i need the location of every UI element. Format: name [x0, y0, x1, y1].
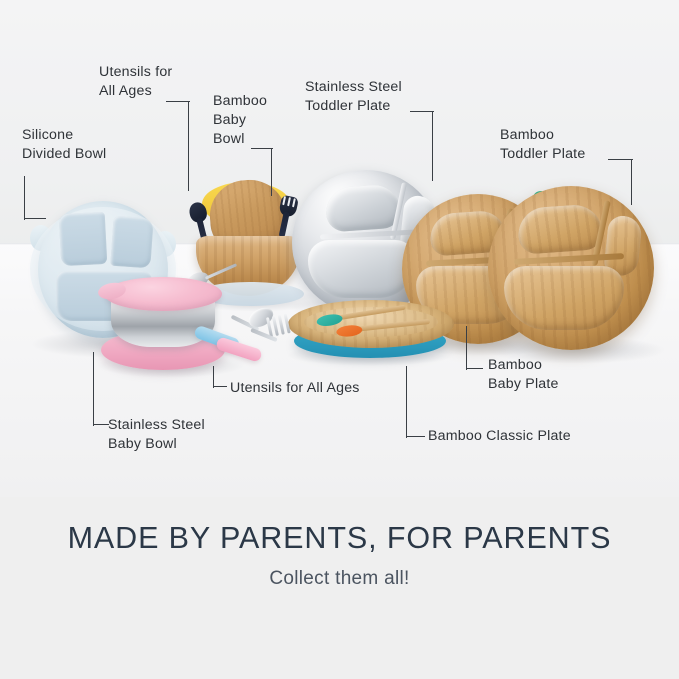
- product-infographic: Silicone Divided Bowl Utensils for All A…: [0, 0, 679, 679]
- label-bamboo-baby-bowl: Bamboo Baby Bowl: [213, 92, 267, 149]
- footer-headline: MADE BY PARENTS, FOR PARENTS: [0, 521, 679, 556]
- fork-handle-pink: [215, 336, 263, 363]
- product-bamboo-toddler-plate-front[interactable]: [488, 186, 654, 350]
- label-silicone-divided-bowl: Silicone Divided Bowl: [22, 126, 106, 164]
- bowl-compartment-1: [59, 212, 108, 266]
- plate-compartment-1: [325, 183, 402, 232]
- connector-bamboo-classic-plate: [406, 366, 425, 438]
- label-stainless-steel-toddler-plate: Stainless Steel Toddler Plate: [305, 78, 402, 116]
- connector-utensils-bottom: [213, 366, 227, 388]
- fork-tine: [287, 197, 291, 206]
- connector-stainless-baby-bowl: [93, 352, 109, 426]
- connector-bamboo-baby-bowl: [251, 148, 273, 196]
- fork-handle: [279, 211, 290, 238]
- product-utensils-for-all-ages[interactable]: [190, 305, 310, 367]
- plate-compartment-3: [504, 266, 624, 330]
- bowl-compartment-2: [110, 216, 153, 269]
- plate-compartment-3: [308, 240, 416, 298]
- connector-bamboo-toddler-plate: [608, 159, 633, 205]
- label-utensils-for-all-ages-bottom: Utensils for All Ages: [230, 379, 360, 398]
- label-bamboo-toddler-plate: Bamboo Toddler Plate: [500, 126, 585, 164]
- fork-tine: [282, 196, 286, 205]
- connector-bamboo-baby-plate: [466, 326, 483, 370]
- fork-tine: [284, 313, 291, 333]
- label-bamboo-baby-plate: Bamboo Baby Plate: [488, 356, 559, 394]
- connector-utensils-top: [166, 101, 190, 191]
- label-bamboo-classic-plate: Bamboo Classic Plate: [428, 427, 571, 446]
- connector-silicone-divided-bowl: [24, 176, 46, 220]
- label-utensils-for-all-ages-top: Utensils for All Ages: [99, 63, 172, 101]
- connector-stainless-toddler-plate: [410, 111, 434, 181]
- footer-subhead: Collect them all!: [0, 568, 679, 590]
- plate-compartment-1: [516, 203, 603, 255]
- label-stainless-steel-baby-bowl: Stainless Steel Baby Bowl: [108, 416, 205, 454]
